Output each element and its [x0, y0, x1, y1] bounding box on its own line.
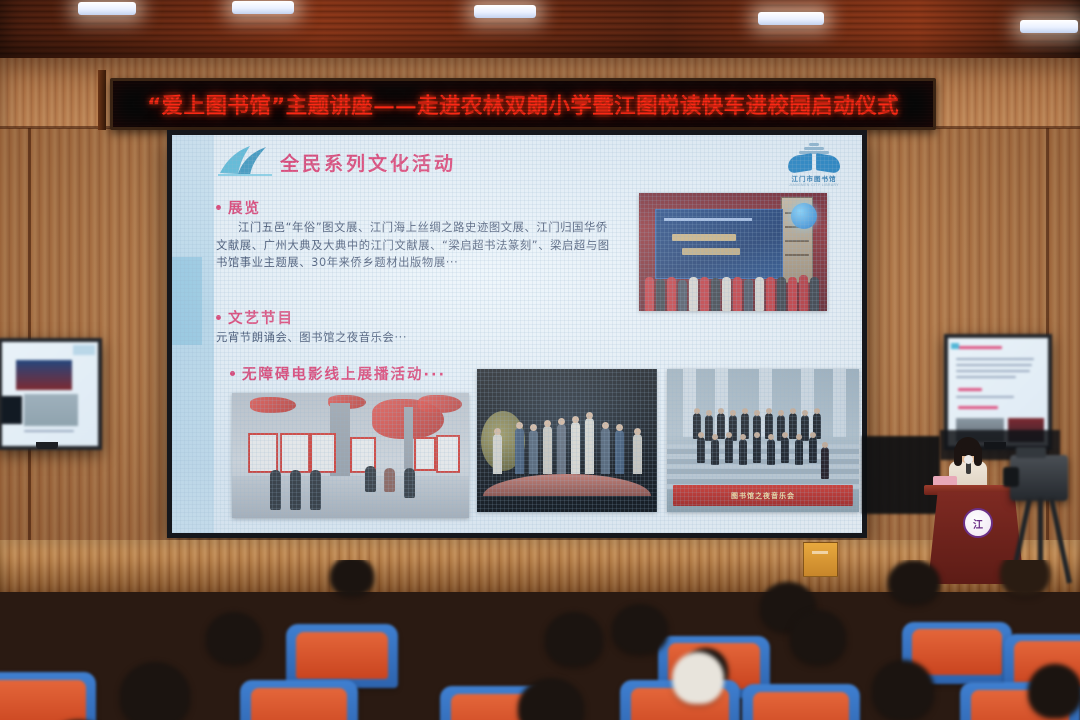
monitor-left-photo-concert [24, 394, 78, 426]
visitor-figure [270, 470, 281, 510]
audience-head [330, 560, 374, 596]
bullet-dot-icon [216, 205, 221, 210]
led-banner-text: “爱上图书馆”主题讲座——走进农林双朗小学暨江图悦读快车进校园启动仪式 [147, 89, 899, 120]
ceiling-light-5 [1020, 20, 1078, 33]
audience-chair [286, 624, 398, 688]
concert-banner: 图书馆之夜音乐会 [673, 485, 853, 506]
library-logo: 江门市图书馆 JIANGMEN CITY LIBRARY [780, 143, 848, 185]
video-camera [1010, 455, 1068, 501]
audience-head [1028, 664, 1080, 718]
audience-head [518, 678, 584, 720]
bullet-dot-icon [230, 371, 235, 376]
slide-body-0: 江门五邑“年俗”图文展、江门海上丝绸之路史迹图文展、江门归国华侨文献展、广州大典… [216, 219, 611, 272]
audience-head [790, 610, 846, 664]
globe-graphic [791, 203, 817, 229]
ceiling-light-3 [474, 5, 536, 18]
ceiling-light-2 [232, 1, 294, 14]
dark-backdrop-panel [862, 436, 940, 514]
audience-head [545, 612, 603, 666]
monitor-left-logo [73, 345, 95, 355]
ceremony-participants [639, 267, 827, 311]
slide-bullet-accessible-film: 无障碍电影线上展播活动··· [230, 363, 446, 384]
slide-bullet-exhibition: 展览 [216, 197, 261, 218]
banner-left-edge [98, 70, 106, 130]
audience-head [120, 662, 190, 720]
slide-left-accent-block [172, 257, 202, 345]
projection-screen: 全民系列文化活动 江门市图书馆 JIANGMEN CITY LIBRARY 展览… [167, 130, 867, 538]
led-banner: “爱上图书馆”主题讲座——走进农林双朗小学暨江图悦读快车进校园启动仪式 [110, 78, 936, 130]
audience-head [872, 660, 934, 720]
podium-emblem-text: 江 [973, 516, 983, 531]
audience-head [672, 652, 724, 704]
visitor-figure [365, 466, 376, 492]
slide-body-1: 元宵节朗诵会、图书馆之夜音乐会··· [216, 329, 611, 347]
logo-book-icon [788, 155, 840, 172]
audience-chair [0, 672, 96, 720]
visitor-figure [384, 468, 395, 492]
photo-concert: 图书馆之夜音乐会 [667, 369, 859, 512]
audience-head [888, 560, 940, 604]
logo-pagoda-icon [797, 143, 831, 155]
podium-emblem: 江 [963, 508, 993, 538]
concert-banner-text: 图书馆之夜音乐会 [731, 491, 795, 501]
logo-name: 江门市图书馆 [780, 173, 848, 183]
monitor-left-stand [36, 442, 58, 449]
slide-heading-2: 无障碍电影线上展播活动··· [242, 363, 446, 384]
audience-chair [240, 680, 358, 720]
visitor-figure [310, 470, 321, 510]
monitor-left [0, 338, 102, 450]
slide-heading-0: 展览 [228, 197, 261, 218]
logo-subtitle: JIANGMEN CITY LIBRARY [780, 183, 848, 187]
ceiling-light-4 [758, 12, 824, 25]
photo-recitation [477, 369, 657, 512]
audience-area [0, 560, 1080, 720]
presentation-slide: 全民系列文化活动 江门市图书馆 JIANGMEN CITY LIBRARY 展览… [172, 135, 862, 533]
audience-head [1000, 560, 1050, 596]
visitor-figure [290, 470, 301, 510]
audience-head [612, 604, 668, 654]
monitor-right-book-icon [951, 343, 959, 349]
choir-members [693, 413, 829, 475]
open-book-icon [216, 143, 274, 177]
slide-heading-1: 文艺节目 [228, 307, 294, 328]
photo-exhibition-hall [232, 393, 469, 518]
slide-bullet-performance: 文艺节目 [216, 307, 294, 328]
microphone-icon [966, 460, 971, 474]
slide-title: 全民系列文化活动 [280, 149, 456, 176]
ceiling-light-1 [78, 2, 136, 15]
bullet-dot-icon [216, 315, 221, 320]
monitor-left-photo-recite [2, 396, 22, 424]
audience-chair [742, 684, 860, 720]
visitor-figure [404, 468, 415, 498]
audience-head [206, 612, 262, 664]
photo-ceremony [639, 193, 827, 311]
ceiling [0, 0, 1080, 62]
auditorium-scene: “爱上图书馆”主题讲座——走进农林双朗小学暨江图悦读快车进校园启动仪式 全民系列… [0, 0, 1080, 720]
monitor-left-photo-ceremony [16, 360, 72, 390]
